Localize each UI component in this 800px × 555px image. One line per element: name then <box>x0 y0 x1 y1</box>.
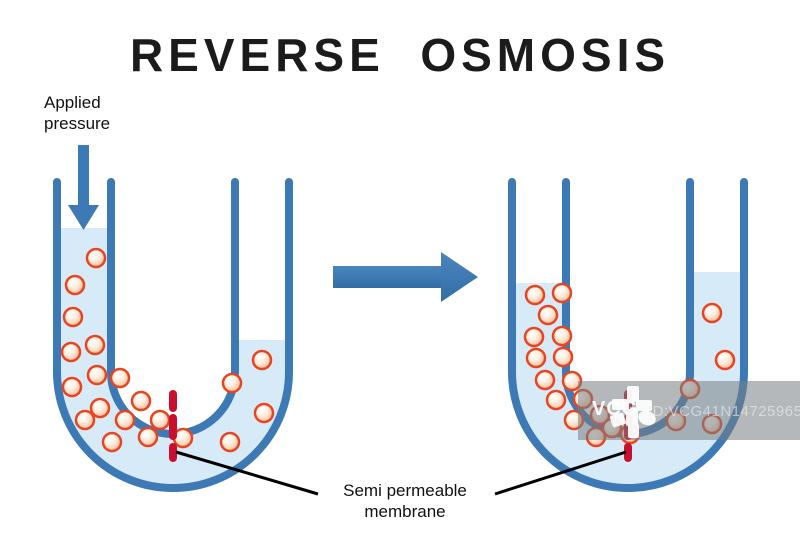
diagram-canvas <box>0 0 800 555</box>
process-arrow <box>333 252 478 302</box>
solute-particle <box>139 428 157 446</box>
solute-particle <box>554 348 572 366</box>
solute-particle <box>86 336 104 354</box>
solute-particle <box>111 369 129 387</box>
solute-particle <box>151 411 169 429</box>
solute-particle <box>88 366 106 384</box>
solute-particle <box>553 284 571 302</box>
solute-particle <box>76 411 94 429</box>
solute-particle <box>716 351 734 369</box>
solute-particle <box>223 374 241 392</box>
solute-particle <box>253 351 271 369</box>
solute-particle <box>103 433 121 451</box>
solute-particle <box>63 378 81 396</box>
solute-particle <box>527 349 545 367</box>
solute-particle <box>116 411 134 429</box>
solute-particle <box>539 306 557 324</box>
solute-particle <box>64 308 82 326</box>
solute-particle <box>553 327 571 345</box>
solute-particle <box>526 286 544 304</box>
solute-particle <box>91 399 109 417</box>
solute-particle <box>66 276 84 294</box>
solute-particle <box>87 249 105 267</box>
apparatus-before <box>40 145 320 535</box>
reverse-osmosis-diagram: REVERSE OSMOSIS Applied pressure Semi pe… <box>0 0 800 555</box>
solute-particle <box>255 404 273 422</box>
solute-particle <box>221 433 239 451</box>
applied-pressure-arrow <box>68 145 99 230</box>
solute-particle <box>525 328 543 346</box>
watermark-id-text: ID:VCG41N1472596564 <box>648 403 800 420</box>
watermark-logo-text: VCG <box>592 398 638 421</box>
apparatus-after <box>495 182 775 555</box>
solute-particle <box>132 392 150 410</box>
solute-particle <box>536 371 554 389</box>
solute-particle <box>703 304 721 322</box>
solute-particle <box>62 343 80 361</box>
solute-particle <box>547 391 565 409</box>
